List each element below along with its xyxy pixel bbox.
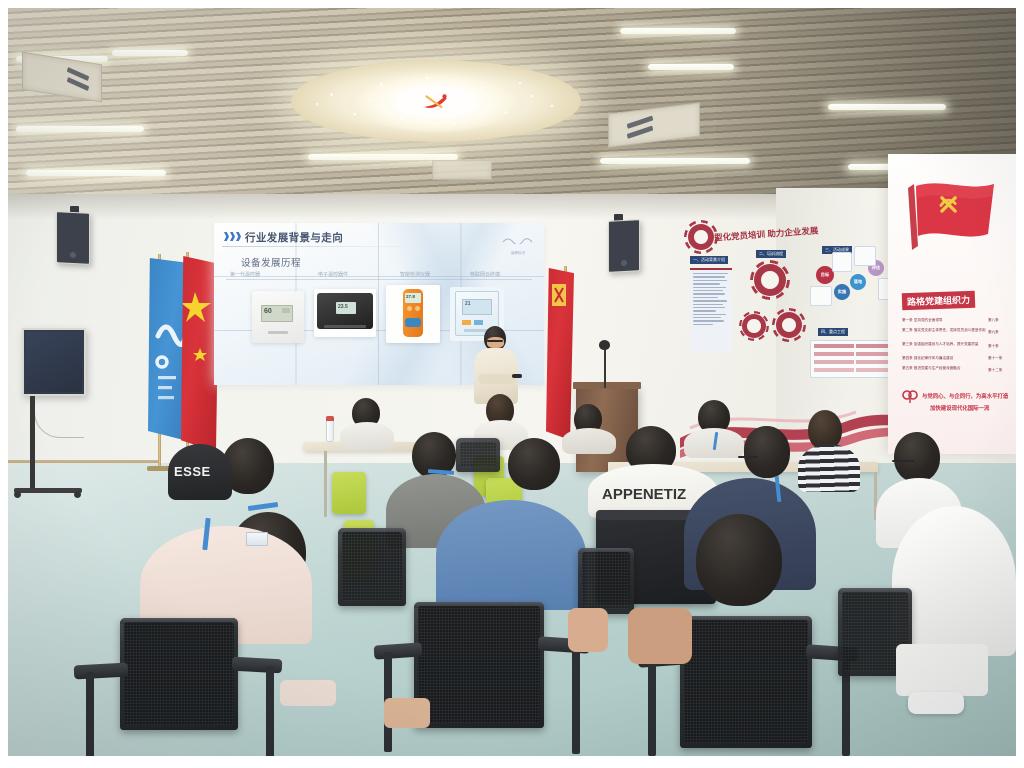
presenter-face <box>487 337 504 348</box>
linear-led-strip-icon <box>648 64 734 70</box>
thermostat-reading: 60 <box>264 308 272 315</box>
chair-armrest <box>74 663 129 680</box>
slide-logo-text: 品牌标识 <box>501 250 535 255</box>
office-chair-back <box>578 548 634 614</box>
product-card-white-wall-thermostat: 60 <box>252 291 304 343</box>
panel-reading: 23.5 <box>338 304 348 310</box>
office-chair-back <box>456 438 500 472</box>
attendee-leg <box>628 608 692 664</box>
attendee-shoe <box>908 692 964 714</box>
standing-banner: 路格党建组织力 第一条 坚持党的全面领导 第二条 落实党支部主体责任，发挥党员战… <box>888 154 1016 454</box>
water-bottle <box>326 420 334 442</box>
infographic-callout <box>810 286 832 306</box>
timeline-caption-1: 第一代温控器 <box>230 271 260 278</box>
linear-led-strip-icon <box>26 170 166 176</box>
banner-label-2: 第九条 <box>988 330 999 335</box>
photo-frame: 行业发展背景与走向 设备发展历程 品牌标识 第一代温控器 电子温控器件 智能检测… <box>0 0 1024 768</box>
chair-mesh <box>582 552 630 609</box>
white-tee-text: APPENETIZ <box>602 486 686 503</box>
banner-label-5: 第十二条 <box>988 368 1002 373</box>
gear-icon <box>742 314 766 338</box>
presenter-arms <box>478 374 516 384</box>
black-tee-text: ESSE <box>174 464 211 479</box>
gear-icon <box>688 224 714 250</box>
table-leg <box>324 451 327 517</box>
office-chair-back <box>680 616 812 748</box>
controller-reading: 21 <box>465 301 471 307</box>
attendee-torso <box>340 422 394 450</box>
chair-post <box>648 660 656 756</box>
linear-led-strip-icon <box>600 158 750 164</box>
microphone-stem <box>604 348 606 388</box>
attendee-black-top: ESSE <box>168 444 232 500</box>
chair-armrest <box>232 657 283 674</box>
meter-reading: 27.8 <box>406 294 415 299</box>
chair-mesh <box>342 532 402 601</box>
banner-slogan-1: 与党同心、与企同行，为高水平打造 <box>922 392 1008 400</box>
cpc-party-flag-icon <box>902 176 998 262</box>
attendee-leg <box>896 644 988 696</box>
tv-stand-base <box>14 488 82 493</box>
chair-mesh <box>460 442 496 467</box>
infographic-text-block <box>690 268 732 352</box>
office-chair-back <box>338 528 406 606</box>
linear-led-strip-icon <box>112 50 188 56</box>
attendee-arm <box>280 680 336 706</box>
wave-logo-icon: 品牌标识 <box>501 231 535 247</box>
cpc-party-flag <box>546 268 574 440</box>
flow-pill-3: 落地 <box>850 274 866 290</box>
linear-led-strip-icon <box>620 28 736 34</box>
product-card-orange-handheld-meter: 27.8 <box>386 285 440 343</box>
linear-led-strip-icon <box>828 104 946 110</box>
infographic-tag-2: 二、培训流程 <box>756 250 786 258</box>
banner-row-1: 第一条 坚持党的全面领导 <box>902 318 943 323</box>
banner-row-2: 第二条 落实党支部主体责任，发挥党员战斗堡垒作用 <box>902 328 986 333</box>
banner-row-5: 第五条 推进党建与生产经营深度融合 <box>902 366 961 371</box>
chair-mesh <box>684 620 808 743</box>
attendee-head <box>508 438 560 490</box>
tv-stand-caster <box>14 491 21 498</box>
green-chair-back <box>332 472 366 514</box>
timeline-caption-3: 智能检测仪器 <box>400 271 430 278</box>
chair-post <box>572 648 580 754</box>
hammer-and-sickle-emblem <box>407 91 465 112</box>
attendee-head <box>744 426 790 478</box>
timeline-caption-2: 电子温控器件 <box>318 271 348 278</box>
attendee-blue-top <box>436 500 586 610</box>
chair-mesh <box>418 606 540 723</box>
attendee-head <box>894 432 940 482</box>
oval-crystal-chandelier-icon <box>291 60 581 142</box>
banner-slogan-2: 加快建设现代化国际一流 <box>930 404 989 412</box>
infographic-tag-4: 四、重点工程 <box>818 328 848 336</box>
attendee-arm <box>568 608 608 652</box>
eyeglasses-icon <box>892 460 914 462</box>
flow-pill-2: 实施 <box>834 284 850 300</box>
ceiling-ac-vent-icon <box>432 160 492 180</box>
banner-row-4: 第四条 强化纪律作风与廉洁建设 <box>902 356 953 361</box>
presentation-clicker <box>512 374 522 378</box>
attendee-striped-top <box>798 444 860 492</box>
tv-screen <box>26 332 82 392</box>
banner-row-3: 第三条 加强组织建设与人才培养，提升党建质量 <box>902 342 978 347</box>
banner-label-4: 第十一条 <box>988 356 1002 361</box>
eyeglasses-icon <box>487 340 503 342</box>
linear-led-strip-icon <box>16 126 144 132</box>
slide-title: 行业发展背景与走向 <box>245 230 343 245</box>
infographic-tag-1: 一、活动背景介绍 <box>690 256 728 264</box>
gear-icon <box>754 264 786 296</box>
infographic-headline: 型化党员培训 助力企业发展 <box>714 224 819 243</box>
banner-label-3: 第十条 <box>988 344 999 349</box>
infographic-callout <box>832 252 852 272</box>
wall-infographic: 型化党员培训 助力企业发展 一、活动背景介绍 二、培训流程 三、活动成果 四、重… <box>684 222 906 422</box>
attendee-torso <box>562 428 616 454</box>
chair-mesh <box>124 622 234 725</box>
slide-divider <box>222 246 422 247</box>
office-chair-back <box>120 618 238 730</box>
podium-microphone-icon <box>599 340 610 350</box>
attendee-arm <box>384 698 430 728</box>
chinese-knot-icon <box>902 390 918 404</box>
eyeglasses-icon <box>738 456 758 458</box>
wall-mounted-loudspeaker-icon <box>56 211 90 265</box>
banner-label-1: 第八条 <box>988 318 999 323</box>
tv-stand-pole <box>30 396 35 492</box>
timeline-caption-4: 物联网云终端 <box>470 271 500 278</box>
chair-post <box>266 666 274 756</box>
banner-headline: 路格党建组织力 <box>902 291 976 311</box>
id-badge <box>246 532 268 546</box>
wall-mounted-loudspeaker-icon <box>608 219 640 273</box>
photograph: 行业发展背景与走向 设备发展历程 品牌标识 第一代温控器 电子温控器件 智能检测… <box>8 8 1016 756</box>
product-card-black-control-panel: 23.5 <box>314 289 376 337</box>
attendee-head <box>696 514 782 606</box>
flat-panel-tv-icon <box>22 328 86 396</box>
slide-subtitle: 设备发展历程 <box>241 255 301 269</box>
double-chevron-right-icon <box>224 232 241 241</box>
bottle-cap <box>326 416 334 421</box>
gear-icon <box>776 312 802 338</box>
slide-timeline-axis <box>226 279 532 280</box>
chair-post <box>86 672 94 756</box>
lectern-top <box>573 382 641 389</box>
tv-stand-caster <box>74 491 81 498</box>
infographic-list-box <box>810 340 900 378</box>
infographic-callout <box>854 246 876 266</box>
office-chair-back <box>414 602 544 728</box>
